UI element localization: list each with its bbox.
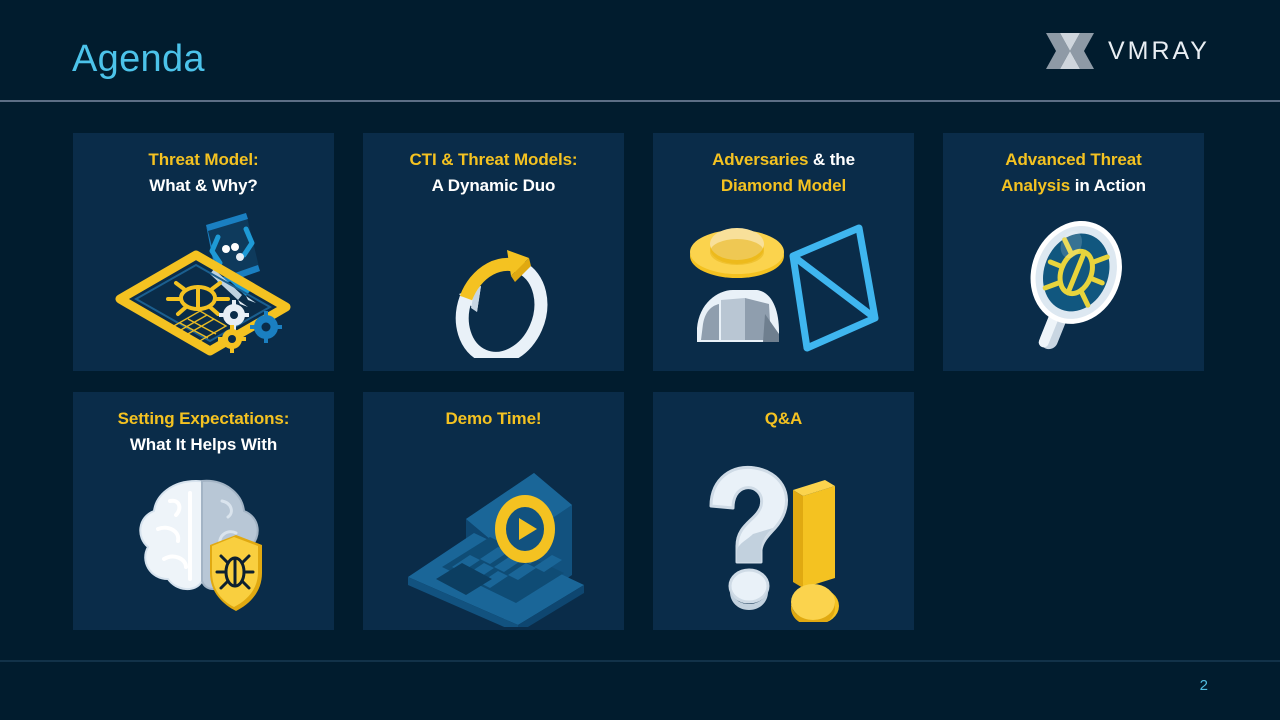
card-title-line-1-yellow: Adversaries bbox=[712, 150, 808, 169]
vmray-hourglass-mark-icon bbox=[1046, 33, 1094, 69]
card-title-line-2: What & Why? bbox=[73, 173, 334, 199]
card-title-line-2-white: in Action bbox=[1070, 176, 1146, 195]
card-title-line-1-white: & the bbox=[808, 150, 855, 169]
page-number: 2 bbox=[1200, 676, 1208, 696]
laptop-play-icon bbox=[363, 458, 624, 626]
page-title: Agenda bbox=[72, 35, 205, 83]
vmray-logo: VMRAY bbox=[1046, 33, 1210, 69]
adversary-diamond-icon bbox=[653, 199, 914, 367]
card-title-line-1: CTI & Threat Models: bbox=[363, 147, 624, 173]
card-title: Adversaries & the Diamond Model bbox=[653, 133, 914, 199]
agenda-card-advanced-threat-analysis[interactable]: Advanced Threat Analysis in Action bbox=[943, 133, 1204, 371]
card-title: Demo Time! bbox=[363, 392, 624, 432]
agenda-card-demo-time[interactable]: Demo Time! bbox=[363, 392, 624, 630]
agenda-card-grid: Threat Model: What & Why? bbox=[73, 133, 1208, 630]
card-title: Threat Model: What & Why? bbox=[73, 133, 334, 199]
footer-divider bbox=[0, 660, 1280, 662]
agenda-card-adversaries-diamond-model[interactable]: Adversaries & the Diamond Model bbox=[653, 133, 914, 371]
slide-header: Agenda VMRAY bbox=[0, 0, 1280, 100]
question-exclamation-icon bbox=[653, 458, 914, 626]
card-title-line-1: Threat Model: bbox=[73, 147, 334, 173]
card-title: CTI & Threat Models: A Dynamic Duo bbox=[363, 133, 624, 199]
blueprint-bug-icon bbox=[73, 199, 334, 367]
card-title-line-2: Diamond Model bbox=[653, 173, 914, 199]
card-title-line-1: Adversaries & the bbox=[653, 147, 914, 173]
agenda-card-threat-model[interactable]: Threat Model: What & Why? bbox=[73, 133, 334, 371]
brain-shield-bug-icon bbox=[73, 458, 334, 626]
agenda-card-qa[interactable]: Q&A bbox=[653, 392, 914, 630]
magnifier-bug-icon bbox=[943, 199, 1204, 367]
card-title: Q&A bbox=[653, 392, 914, 432]
card-title: Advanced Threat Analysis in Action bbox=[943, 133, 1204, 199]
agenda-slide: Agenda VMRAY Threat Model: What & Why? bbox=[0, 0, 1280, 720]
agenda-row-1: Threat Model: What & Why? bbox=[73, 133, 1208, 371]
card-title: Setting Expectations: What It Helps With bbox=[73, 392, 334, 458]
card-title-line-1: Q&A bbox=[653, 406, 914, 432]
agenda-row-2: Setting Expectations: What It Helps With bbox=[73, 392, 1208, 630]
card-title-line-1: Advanced Threat bbox=[943, 147, 1204, 173]
vmray-wordmark: VMRAY bbox=[1108, 33, 1210, 69]
card-title-line-2: A Dynamic Duo bbox=[363, 173, 624, 199]
agenda-card-setting-expectations[interactable]: Setting Expectations: What It Helps With bbox=[73, 392, 334, 630]
card-title-line-1: Setting Expectations: bbox=[73, 406, 334, 432]
agenda-card-cti-threat-models[interactable]: CTI & Threat Models: A Dynamic Duo bbox=[363, 133, 624, 371]
card-title-line-2-yellow: Analysis bbox=[1001, 176, 1070, 195]
card-title-line-2: Analysis in Action bbox=[943, 173, 1204, 199]
card-title-line-1: Demo Time! bbox=[363, 406, 624, 432]
card-title-line-2: What It Helps With bbox=[73, 432, 334, 458]
cycle-arrows-icon bbox=[363, 199, 624, 367]
header-divider bbox=[0, 100, 1280, 102]
